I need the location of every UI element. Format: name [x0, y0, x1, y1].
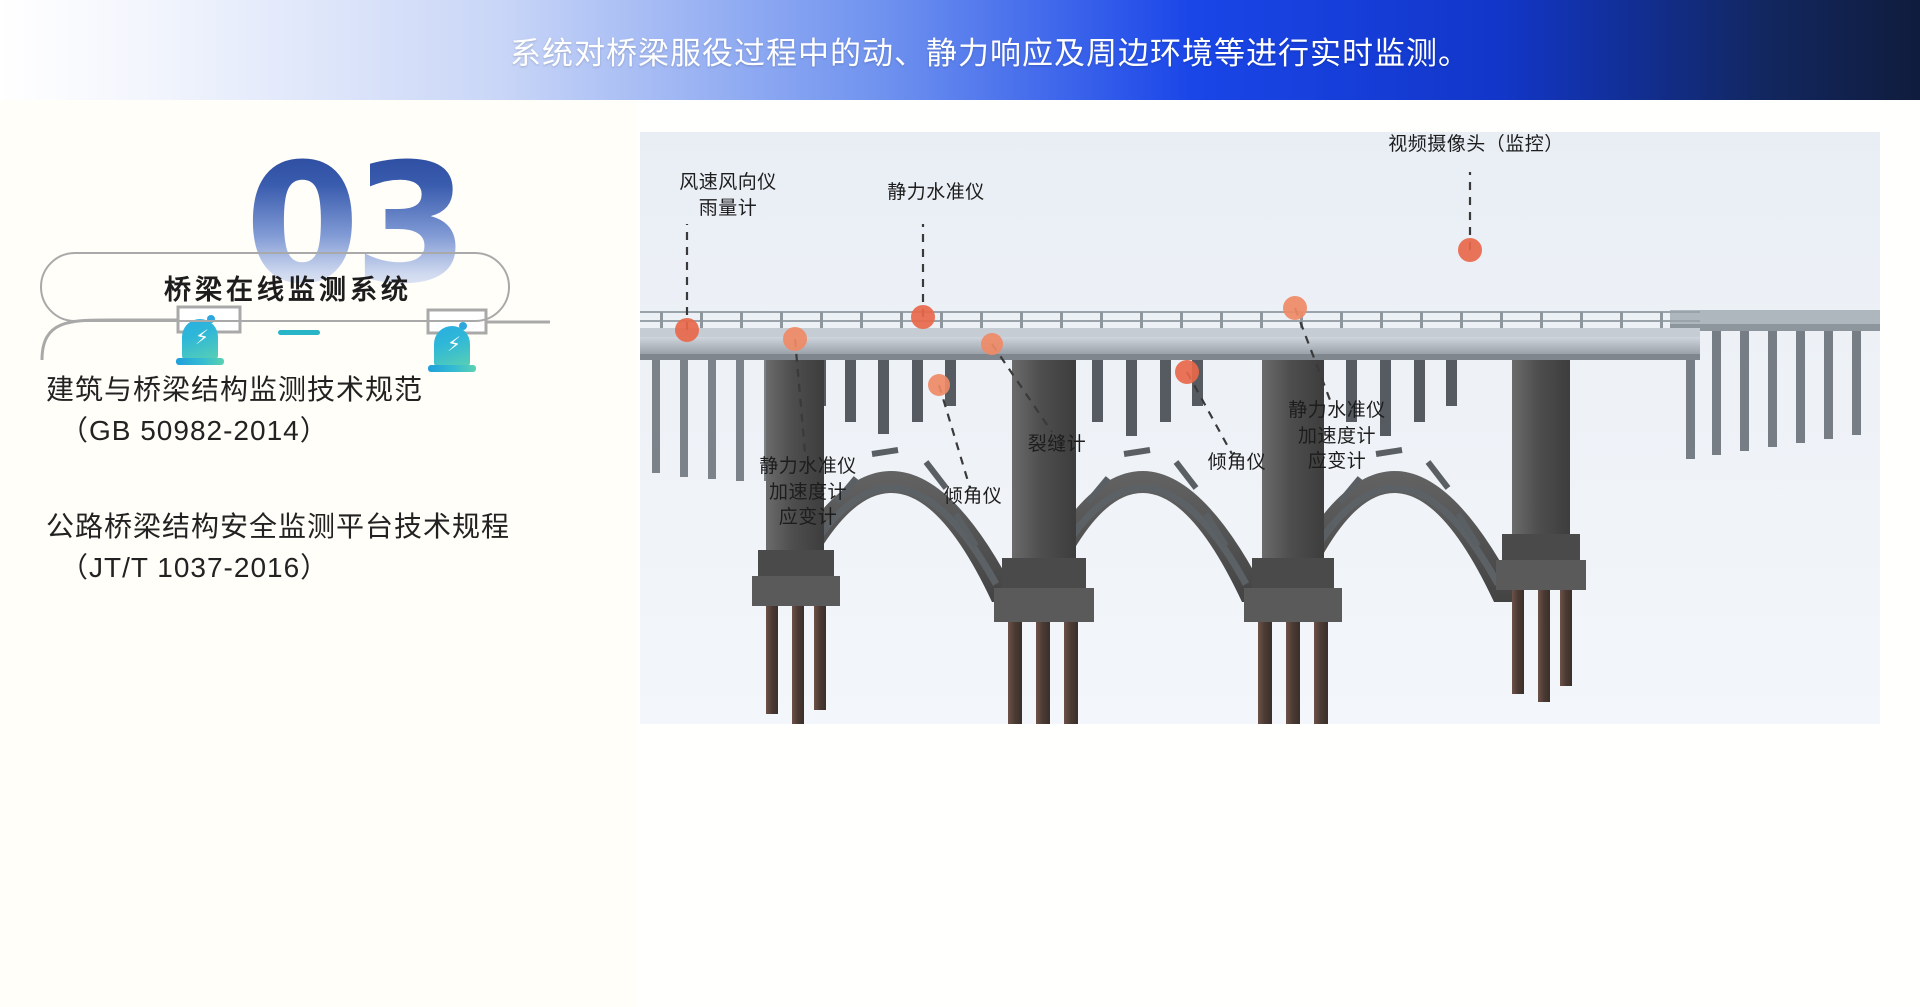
standards-list: 建筑与桥梁结构监测技术规范 （GB 50982-2014） 公路桥梁结构安全监测…	[46, 370, 626, 644]
label-inclinometer-left: 倾角仪	[918, 484, 1028, 510]
marker-right-cluster	[1283, 296, 1307, 320]
label-wind-rain: 风速风向仪 雨量计	[640, 170, 828, 221]
marker-wind	[675, 318, 699, 342]
standard-code: （GB 50982-2014）	[46, 411, 626, 452]
approach-viaduct-right	[1670, 310, 1880, 459]
label-static-level-accel-strain-right: 静力水准仪 加速度计 应变计	[1252, 398, 1422, 475]
marker-incline-left	[928, 374, 950, 396]
lightning-bolt-icon: ⚡	[447, 335, 459, 356]
marker-left-cluster	[783, 327, 807, 351]
label-video-camera: 视频摄像头（监控）	[1356, 132, 1596, 158]
marker-static-mid	[911, 305, 935, 329]
slide-root: 系统对桥梁服役过程中的动、静力响应及周边环境等进行实时监测。 03 ⚡	[0, 0, 1920, 1007]
label-static-level-mid: 静力水准仪	[856, 180, 1016, 206]
bridge-diagram-panel: 风速风向仪 雨量计 静力水准仪 视频摄像头（监控） 静力水准仪 加速度计 应变计…	[640, 132, 1880, 724]
label-crack-gauge: 裂缝计	[1002, 432, 1112, 458]
standard-item: 公路桥梁结构安全监测平台技术规程 （JT/T 1037-2016）	[46, 507, 626, 588]
standard-code: （JT/T 1037-2016）	[46, 548, 626, 589]
header-bar: 系统对桥梁服役过程中的动、静力响应及周边环境等进行实时监测。	[0, 0, 1920, 100]
marker-crack	[981, 333, 1003, 355]
standard-name: 建筑与桥梁结构监测技术规范	[46, 370, 626, 411]
lightning-bolt-icon: ⚡	[195, 328, 207, 349]
standard-name: 公路桥梁结构安全监测平台技术规程	[46, 507, 626, 548]
title-underline	[278, 330, 320, 335]
beacon-base	[176, 358, 224, 365]
marker-incline-right	[1175, 360, 1199, 384]
left-panel: 03 ⚡ ⚡ 桥梁在线监测系统 建筑与桥梁结构监测技术规范 （GB 50982-…	[0, 100, 636, 1007]
marker-camera	[1458, 238, 1482, 262]
section-title: 桥梁在线监测系统	[40, 252, 510, 322]
label-static-level-accel-strain-left: 静力水准仪 加速度计 应变计	[728, 454, 888, 531]
header-title: 系统对桥梁服役过程中的动、静力响应及周边环境等进行实时监测。	[0, 0, 1920, 100]
standard-item: 建筑与桥梁结构监测技术规范 （GB 50982-2014）	[46, 370, 626, 451]
section-badge: 03 ⚡ ⚡ 桥梁在线监测系统	[30, 130, 610, 390]
beacon-lamp-icon-left: ⚡	[176, 319, 224, 375]
